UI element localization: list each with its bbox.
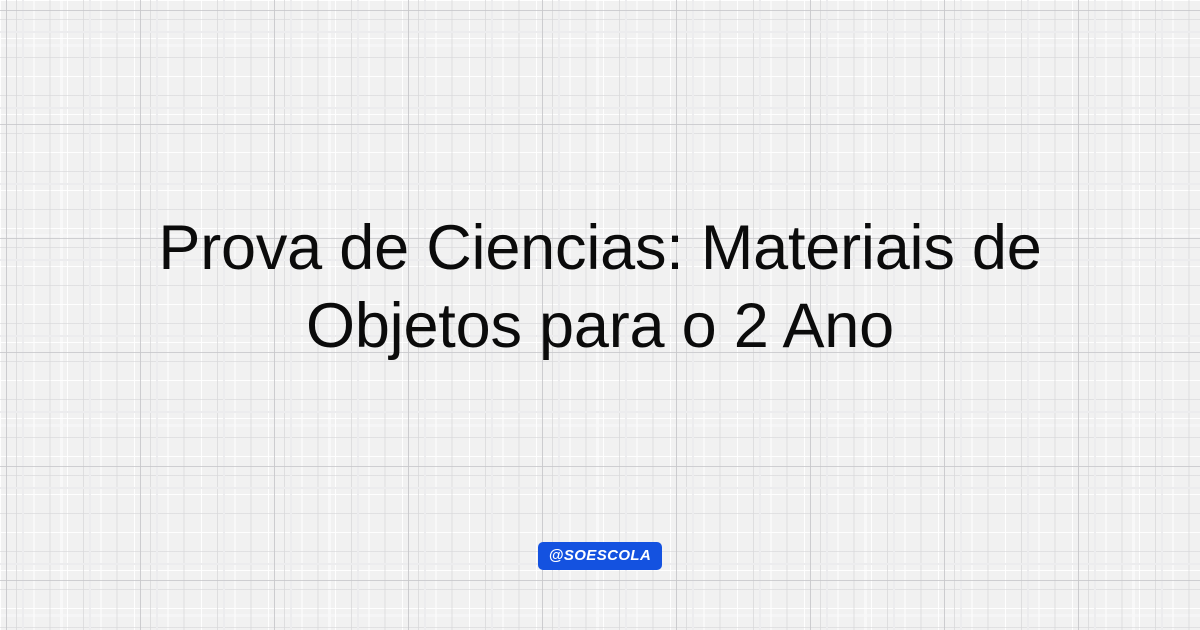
page-title-line-2: Objetos para o 2 Ano: [60, 287, 1140, 365]
watermark-badge: @SOESCOLA: [538, 542, 662, 570]
share-card: Prova de Ciencias: Materiais de Objetos …: [0, 0, 1200, 630]
page-title: Prova de Ciencias: Materiais de Objetos …: [0, 209, 1200, 365]
page-title-line-1: Prova de Ciencias: Materiais de: [60, 209, 1140, 287]
watermark-container: @SOESCOLA: [0, 542, 1200, 570]
